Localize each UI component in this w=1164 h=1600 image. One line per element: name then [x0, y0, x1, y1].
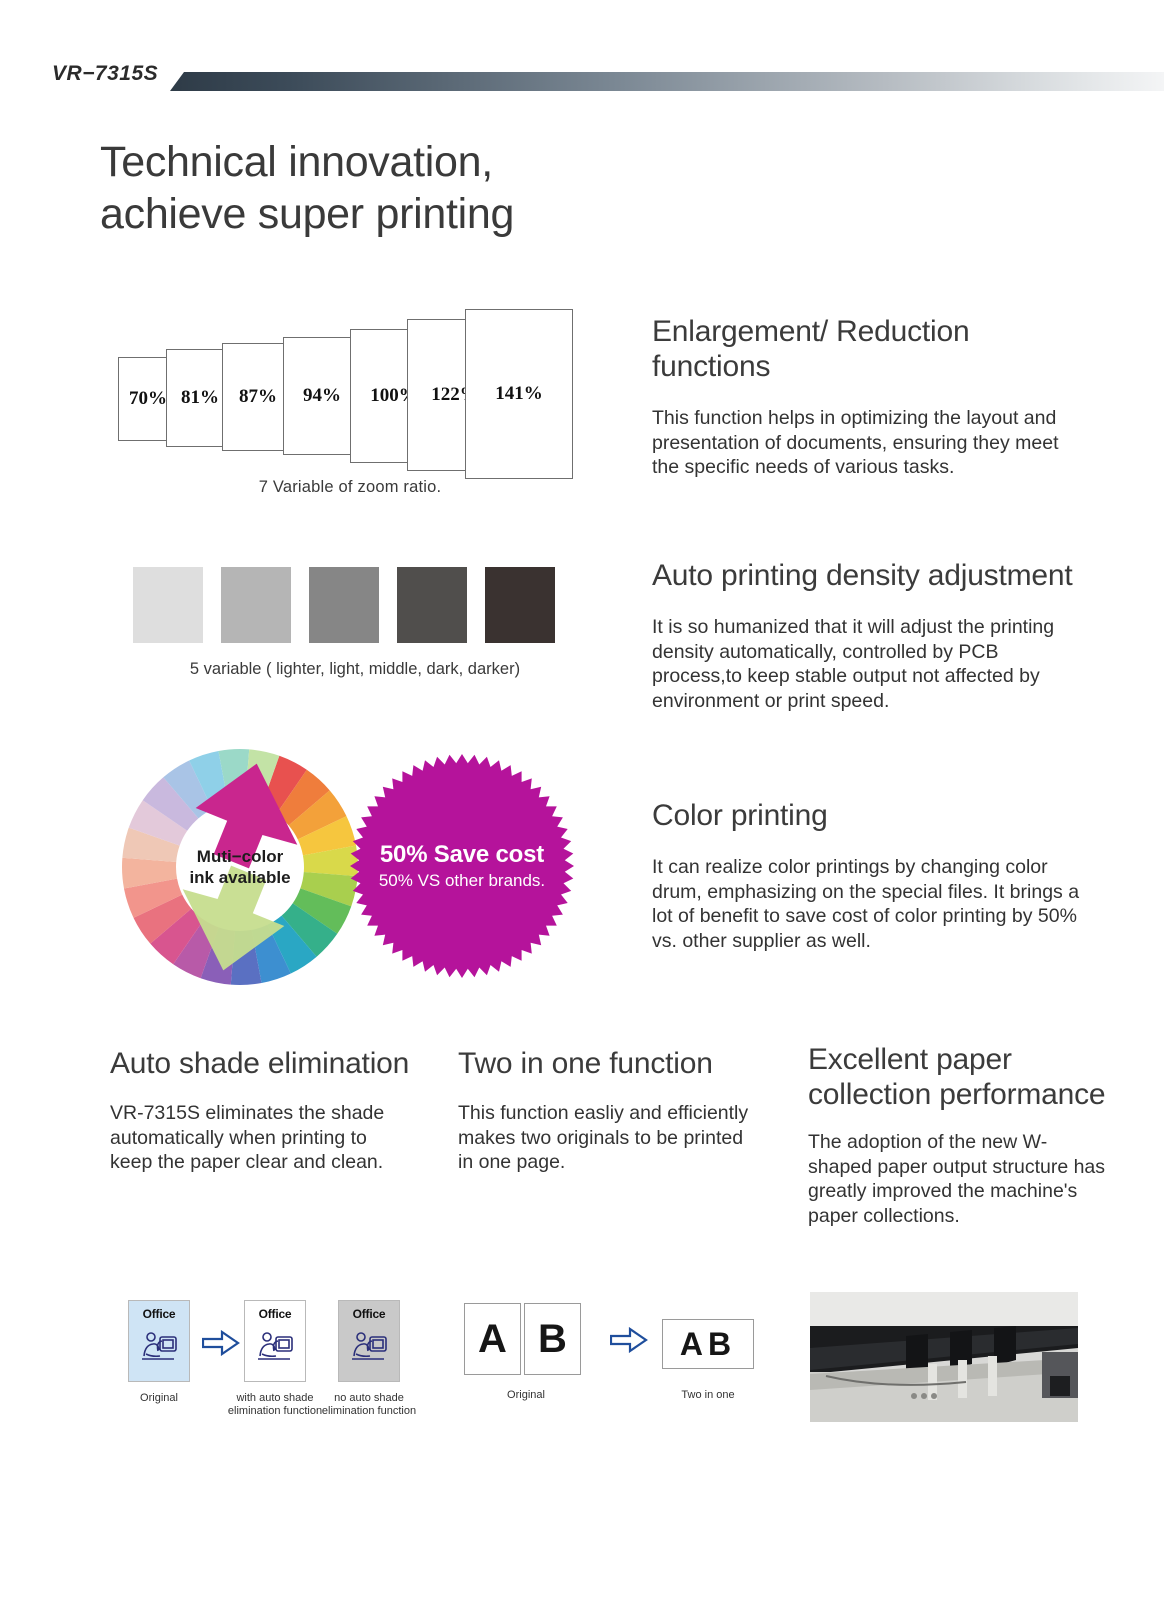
feature-heading: Auto printing density adjustment	[652, 558, 1082, 593]
starburst-icon	[348, 752, 576, 980]
zoom-ratio-figure: 70% 81% 87% 94% 100% 122% 141%	[110, 305, 590, 505]
feature-heading: Auto shade elimination	[110, 1046, 410, 1081]
color-wheel-icon	[120, 742, 360, 992]
shade-elimination-figure: Office Office	[110, 1300, 410, 1440]
two-caption-original: Original	[468, 1389, 584, 1402]
person-at-computer-icon	[253, 1324, 297, 1368]
feature-heading: Color printing	[652, 798, 1082, 833]
arrow-right-icon	[610, 1327, 648, 1353]
zoom-paper: 141%	[465, 309, 573, 479]
page-title: Technical innovation, achieve super prin…	[100, 136, 800, 241]
color-wheel-figure: Muti−color ink avaliable	[120, 742, 360, 992]
two-in-one-figure: A B AB Original Two in one	[458, 1303, 758, 1443]
density-swatch-light	[221, 567, 291, 643]
office-card-no-elimination: Office	[338, 1300, 400, 1382]
arrow-right-icon	[202, 1330, 240, 1356]
feature-body: It can realize color printings by changi…	[652, 855, 1082, 953]
office-card-original: Office	[128, 1300, 190, 1382]
feature-body: VR-7315S eliminates the shade automatica…	[110, 1101, 410, 1175]
zoom-ratio-label: 94%	[303, 385, 341, 407]
two-caption-combined: Two in one	[654, 1389, 762, 1402]
density-swatch-lighter	[133, 567, 203, 643]
office-card-with-elimination: Office	[244, 1300, 306, 1382]
office-card-label: Office	[143, 1307, 176, 1321]
feature-color-printing: Color printing It can realize color prin…	[652, 798, 1082, 953]
feature-body: This function helps in optimizing the la…	[652, 406, 1082, 480]
combined-page-ab: AB	[662, 1319, 754, 1369]
save-cost-badge: 50% Save cost 50% VS other brands.	[348, 752, 576, 980]
feature-heading: Excellent paper collection performance	[808, 1042, 1108, 1112]
feature-heading: Enlargement/ Reduction functions	[652, 314, 1082, 384]
zoom-figure-caption: 7 Variable of zoom ratio.	[110, 478, 590, 497]
feature-density: Auto printing density adjustment It is s…	[652, 558, 1082, 713]
person-at-computer-icon	[137, 1324, 181, 1368]
shade-caption-with: with auto shade elimination function	[220, 1392, 330, 1419]
office-card-label: Office	[259, 1307, 292, 1321]
paper-output-photo	[810, 1292, 1078, 1422]
model-name: VR−7315S	[52, 62, 158, 86]
feature-body: It is so humanized that it will adjust t…	[652, 615, 1082, 713]
feature-auto-shade: Auto shade elimination VR-7315S eliminat…	[110, 1046, 410, 1175]
density-figure-caption: 5 variable ( lighter, light, middle, dar…	[110, 660, 600, 679]
page-header: VR−7315S	[0, 62, 1164, 102]
feature-paper-collection: Excellent paper collection performance T…	[808, 1042, 1108, 1228]
feature-two-in-one: Two in one function This function easliy…	[458, 1046, 758, 1175]
printer-output-photo-illustration	[810, 1292, 1078, 1422]
original-page-a: A	[464, 1303, 521, 1375]
zoom-ratio-label: 87%	[239, 386, 277, 408]
header-gradient-bar	[170, 72, 1164, 91]
zoom-ratio-label: 81%	[181, 387, 219, 409]
density-swatch-middle	[309, 567, 379, 643]
office-card-label: Office	[353, 1307, 386, 1321]
density-swatch-dark	[397, 567, 467, 643]
person-at-computer-icon	[347, 1324, 391, 1368]
density-swatch-darker	[485, 567, 555, 643]
zoom-ratio-label: 141%	[495, 383, 543, 405]
shade-caption-without: no auto shade elimination function	[318, 1392, 420, 1419]
feature-enlargement: Enlargement/ Reduction functions This fu…	[652, 314, 1082, 480]
zoom-ratio-label: 70%	[129, 388, 167, 410]
original-page-b: B	[524, 1303, 581, 1375]
feature-body: This function easliy and efficiently mak…	[458, 1101, 758, 1175]
shade-caption-original: Original	[110, 1392, 208, 1405]
brochure-page: VR−7315S Technical innovation, achieve s…	[0, 0, 1164, 1600]
density-swatch-row	[133, 567, 573, 643]
feature-heading: Two in one function	[458, 1046, 758, 1081]
feature-body: The adoption of the new W-shaped paper o…	[808, 1130, 1108, 1228]
